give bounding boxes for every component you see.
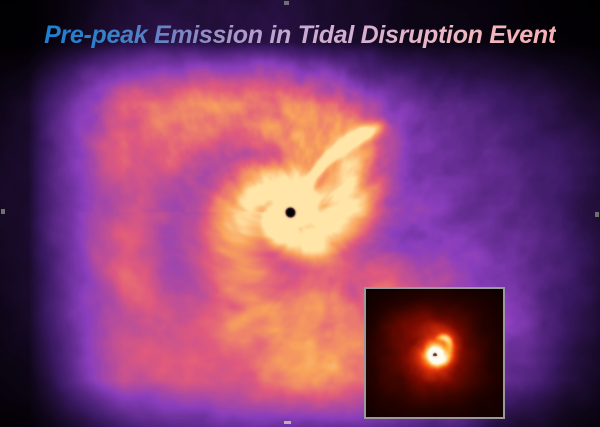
crop-mark-left-icon bbox=[1, 209, 5, 214]
crop-mark-right-icon bbox=[595, 212, 599, 217]
figure-root: Pre-peak Emission in Tidal Disruption Ev… bbox=[0, 0, 600, 427]
crop-mark-bottom-icon bbox=[284, 421, 291, 424]
zoomed-inner-disk-image bbox=[366, 289, 503, 417]
tidal-disruption-simulation-image bbox=[0, 0, 600, 427]
inset-panel bbox=[364, 287, 505, 419]
crop-mark-top-icon bbox=[284, 1, 289, 5]
